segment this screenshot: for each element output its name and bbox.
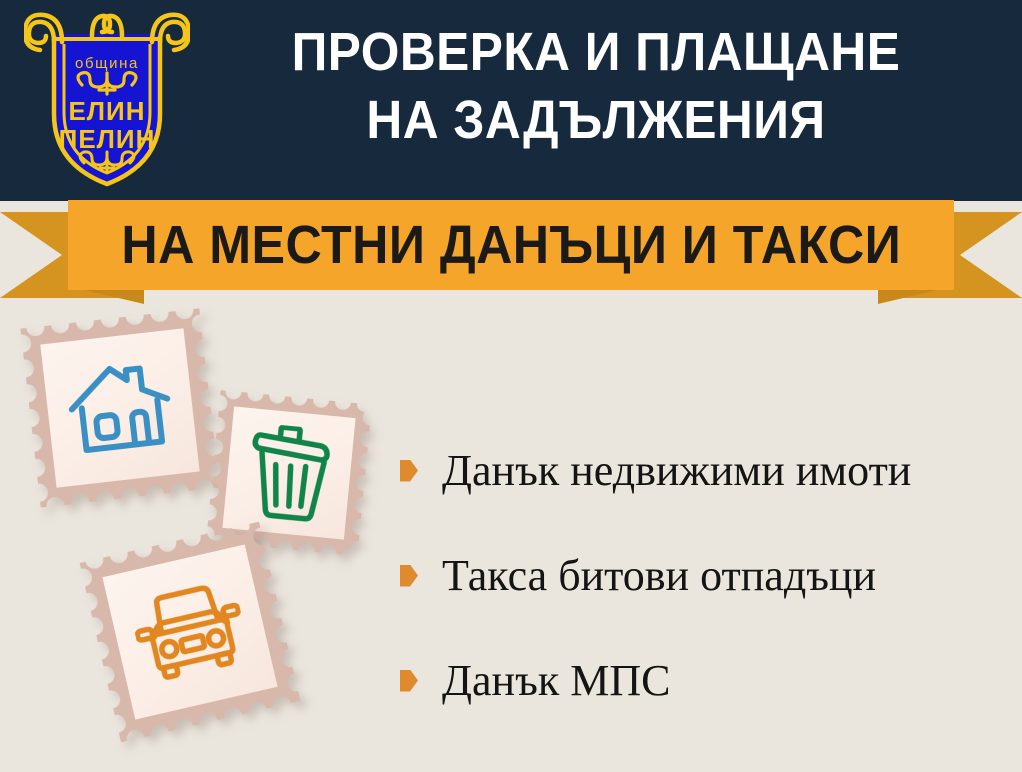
arrow-bullet-icon [400, 670, 418, 692]
trash-bin-icon [243, 422, 336, 524]
crest-word-elin: ЕЛИН [68, 96, 145, 126]
stamp-card-group [0, 300, 400, 772]
list-item[interactable]: Данък МПС [400, 628, 1022, 733]
house-icon [63, 354, 177, 461]
stamp-card-house [12, 300, 229, 517]
header-bar: община ЕЛИН ПЕЛИН [0, 0, 1022, 201]
municipality-crest-logo: община ЕЛИН ПЕЛИН [24, 6, 190, 192]
poster-title: ПРОВЕРКА И ПЛАЩАНЕ НА ЗАДЪЛЖЕНИЯ [196, 18, 996, 154]
arrow-bullet-icon [400, 460, 418, 482]
crest-word-obshtina: община [75, 55, 139, 72]
crest-word-pelin: ПЕЛИН [59, 124, 156, 154]
stamp-face-house [40, 328, 199, 487]
list-item-label: Данък недвижими имоти [442, 447, 911, 495]
car-front-icon [127, 576, 252, 688]
arrow-bullet-icon [400, 565, 418, 587]
title-line-2: НА ЗАДЪЛЖЕНИЯ [228, 86, 964, 154]
list-item-label: Такса битови отпадъци [442, 552, 876, 600]
coat-of-arms-icon: община ЕЛИН ПЕЛИН [24, 6, 190, 192]
list-item[interactable]: Такса битови отпадъци [400, 523, 1022, 628]
tax-type-list: Данък недвижими имоти Такса битови отпад… [400, 418, 1022, 733]
list-item-label: Данък МПС [442, 657, 670, 705]
list-item[interactable]: Данък недвижими имоти [400, 418, 1022, 523]
poster-root: община ЕЛИН ПЕЛИН [0, 0, 1022, 772]
title-line-1: ПРОВЕРКА И ПЛАЩАНЕ [228, 18, 964, 86]
subtitle-ribbon: НА МЕСТНИ ДАНЪЦИ И ТАКСИ [0, 200, 1022, 304]
ribbon-body: НА МЕСТНИ ДАНЪЦИ И ТАКСИ [68, 200, 954, 290]
ribbon-label: НА МЕСТНИ ДАНЪЦИ И ТАКСИ [121, 216, 901, 274]
